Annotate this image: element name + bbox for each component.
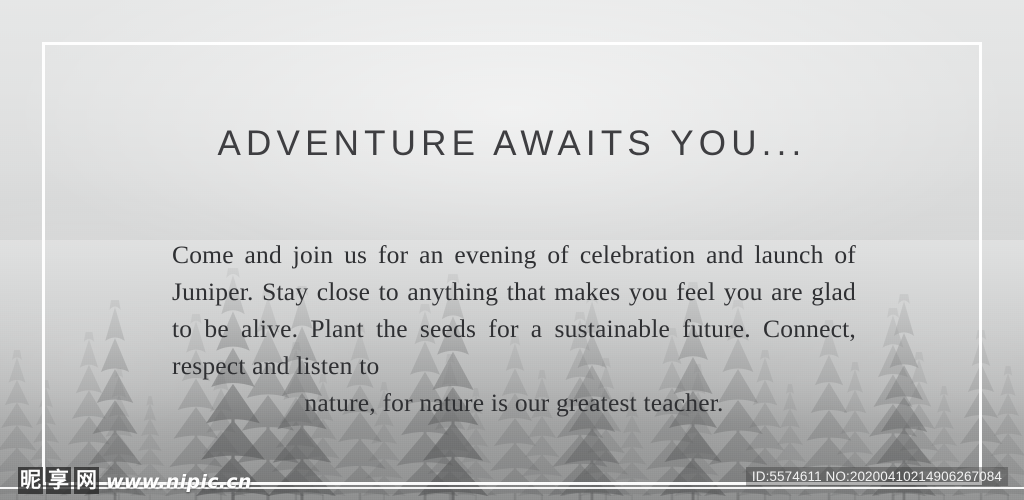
logo-glyph-1: 昵: [18, 467, 43, 494]
page-title: ADVENTURE AWAITS YOU...: [0, 124, 1024, 164]
watermark-bar: 昵 享 网 www.nipic.cn ID:5574611 NO:2020041…: [0, 456, 1024, 500]
watermark-brand: 昵 享 网 www.nipic.cn: [18, 467, 252, 494]
body-line-1: Come and join us for an evening of celeb…: [172, 240, 744, 269]
watermark-id-text: ID:5574611 NO:20200410214906267084: [746, 467, 1008, 486]
nipic-logo-icon: 昵 享 网: [18, 467, 99, 494]
body-line-5: nature, for nature is our greatest teach…: [172, 384, 856, 421]
body-paragraph: Come and join us for an evening of celeb…: [172, 236, 856, 421]
poster-canvas: ADVENTURE AWAITS YOU... Come and join us…: [0, 0, 1024, 500]
logo-glyph-2: 享: [46, 467, 71, 494]
watermark-url: www.nipic.cn: [106, 471, 252, 494]
logo-glyph-3: 网: [74, 467, 99, 494]
